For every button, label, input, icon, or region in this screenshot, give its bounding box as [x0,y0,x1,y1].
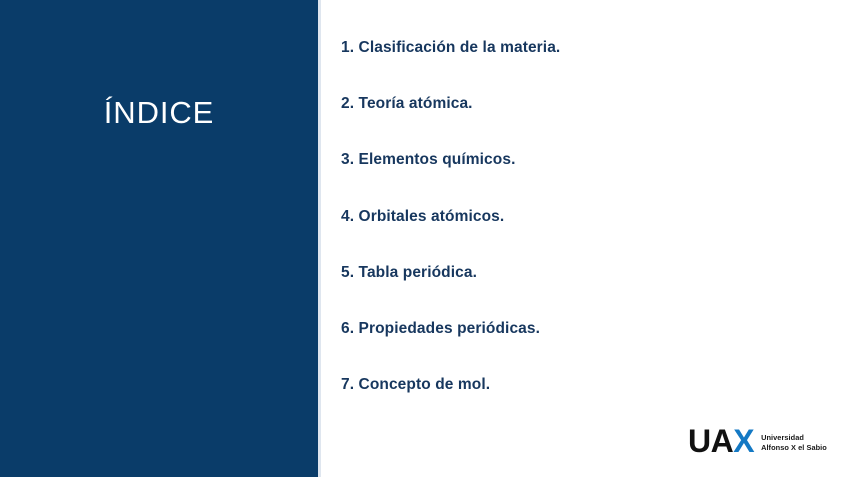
uax-tagline: Universidad Alfonso X el Sabio [761,433,827,452]
uax-tagline-line1: Universidad [761,433,827,442]
uax-logo: UAX Universidad Alfonso X el Sabio [688,421,828,461]
uax-tagline-line2: Alfonso X el Sabio [761,443,827,452]
list-item: 3. Elementos químicos. [341,150,811,206]
list-item: 1. Clasificación de la materia. [341,38,811,94]
slide-canvas: ÍNDICE 1. Clasificación de la materia. 2… [0,0,848,477]
page-title: ÍNDICE [0,94,318,132]
index-list: 1. Clasificación de la materia. 2. Teorí… [341,38,811,431]
panel-divider [318,0,321,477]
uax-letters-ua: UA [688,423,733,459]
list-item: 2. Teoría atómica. [341,94,811,150]
uax-wordmark: UAX [688,425,754,457]
list-item: 5. Tabla periódica. [341,263,811,319]
title-panel: ÍNDICE [0,0,318,477]
uax-letter-x: X [733,423,754,459]
list-item: 6. Propiedades periódicas. [341,319,811,375]
list-item: 4. Orbitales atómicos. [341,207,811,263]
